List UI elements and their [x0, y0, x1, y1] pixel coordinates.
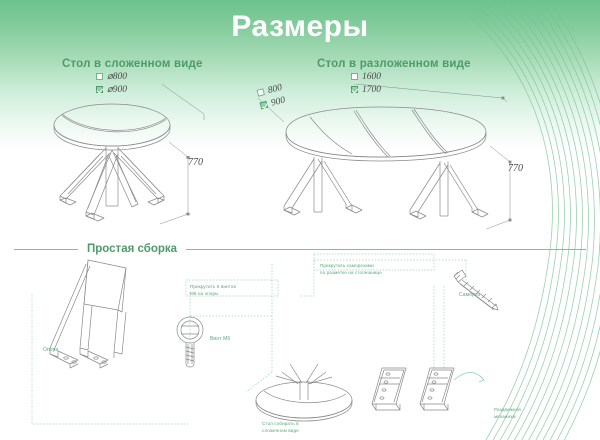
annotation-selftap-note: Прикрутить саморезами по разметке на сто…: [320, 263, 382, 277]
height-dimension-unfolded: 770: [508, 163, 523, 174]
option-label: ⌀800: [107, 71, 127, 82]
divider-right: [186, 249, 586, 250]
section-heading-folded: Стол в сложенном виде: [62, 58, 203, 70]
checkbox-checked-icon[interactable]: [351, 86, 358, 93]
unfolded-table-drawing: [248, 84, 548, 229]
annotation-opora-label: Опора: [43, 347, 58, 355]
option-label: 900: [270, 95, 286, 108]
annotation-samorez-label: Саморез: [459, 292, 480, 300]
length-option-group: 1600 1700: [351, 71, 381, 97]
option-length-1700[interactable]: 1700: [351, 84, 381, 95]
folded-table-drawing: [40, 84, 240, 229]
poster-page: Размеры Стол в сложенном виде ⌀800 ⌀900: [0, 0, 600, 440]
option-label: 1600: [362, 72, 381, 82]
height-dimension-folded: 770: [188, 157, 203, 168]
option-length-1600[interactable]: 1600: [351, 71, 381, 82]
divider-left: [14, 249, 78, 250]
annotation-screws-note: Прикрутить 8 винтов М6 на опоры: [190, 284, 236, 298]
checkbox-unchecked-icon[interactable]: [256, 88, 264, 96]
checkbox-unchecked-icon[interactable]: [96, 73, 103, 80]
annotation-mechanism-label: Раздвижной механизм: [494, 407, 521, 421]
option-label: 1700: [362, 85, 381, 95]
checkbox-unchecked-icon[interactable]: [351, 73, 358, 80]
option-diameter-800[interactable]: ⌀800: [96, 71, 127, 82]
diameter-option-group: ⌀800 ⌀900: [96, 71, 127, 97]
checkbox-checked-icon[interactable]: [260, 101, 268, 109]
annotation-fold-note: Стол собирать в сложенном виде: [262, 421, 299, 435]
annotation-vint-label: Винт М6: [210, 336, 230, 344]
assembly-section-header: Простая сборка: [0, 239, 600, 259]
option-label: ⌀900: [107, 84, 127, 95]
option-diameter-900[interactable]: ⌀900: [96, 84, 127, 95]
option-label: 800: [267, 82, 283, 95]
assembly-heading: Простая сборка: [78, 243, 186, 255]
section-heading-unfolded: Стол в разложенном виде: [317, 58, 471, 70]
page-title: Размеры: [0, 10, 600, 44]
checkbox-checked-icon[interactable]: [96, 86, 103, 93]
